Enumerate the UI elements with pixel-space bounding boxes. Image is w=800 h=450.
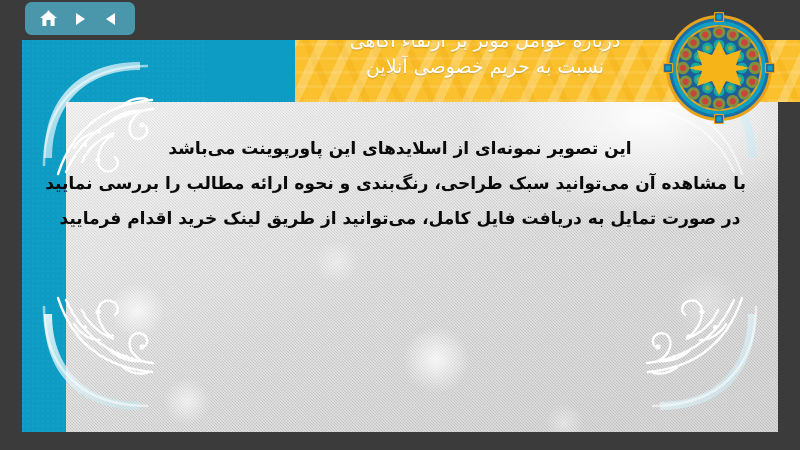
- home-button[interactable]: [36, 8, 62, 30]
- body-line-1: این تصویر نمونه‌ای از اسلایدهای این پاور…: [54, 132, 746, 167]
- title-line-3: نسبت به حریم خصوصی آنلاین: [290, 54, 680, 80]
- home-icon: [39, 10, 58, 28]
- slide-body-text: این تصویر نمونه‌ای از اسلایدهای این پاور…: [54, 132, 746, 237]
- body-line-2: با مشاهده آن می‌توانید سبک طراحی، رنگ‌بن…: [54, 167, 746, 202]
- body-line-3: در صورت تمایل به دریافت فایل کامل، می‌تو…: [54, 202, 746, 237]
- slide-preview-stage: کامل تحلیل دیدگاه‌های دانشجویان درباره ع…: [0, 0, 800, 450]
- back-button[interactable]: [98, 8, 124, 30]
- persian-medallion-icon: [663, 12, 775, 124]
- forward-button[interactable]: [67, 8, 93, 30]
- triangle-left-icon: [103, 11, 119, 27]
- navigation-controls[interactable]: [25, 2, 135, 35]
- triangle-right-icon: [72, 11, 88, 27]
